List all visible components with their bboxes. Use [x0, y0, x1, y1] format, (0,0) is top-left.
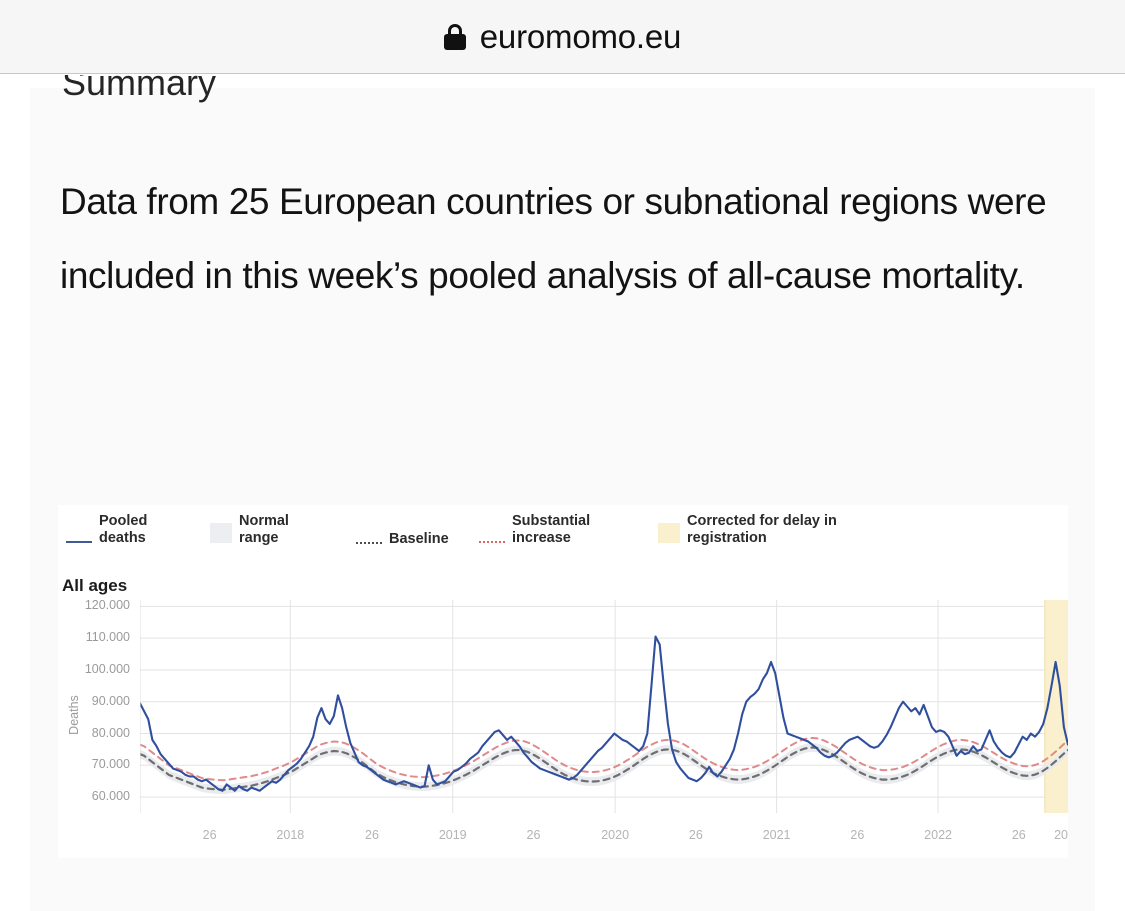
x-tick-label: 26: [1012, 828, 1026, 842]
y-tick-label: 80.000: [68, 726, 130, 740]
legend-item-substantial-increase: Substantial increase: [479, 513, 590, 547]
mortality-chart-card: Pooled deaths Normal range Baseline Subs…: [58, 505, 1068, 858]
legend-item-baseline: Baseline: [356, 531, 449, 548]
y-tick-label: 100.000: [68, 662, 130, 676]
y-axis-tick-labels: 60.00070.00080.00090.000100.000110.00012…: [68, 600, 130, 858]
pooled-deaths-line-icon: [66, 541, 92, 543]
chart-legend: Pooled deaths Normal range Baseline Subs…: [58, 513, 1068, 559]
x-tick-label: 2021: [763, 828, 791, 842]
x-tick-label: 26: [365, 828, 379, 842]
normal-range-swatch-icon: [210, 523, 232, 543]
browser-url-bar[interactable]: euromomo.eu: [0, 0, 1125, 74]
x-tick-label: 2018: [276, 828, 304, 842]
legend-label: Corrected for delay in registration: [687, 513, 837, 547]
intro-paragraph: Data from 25 European countries or subna…: [60, 165, 1050, 313]
y-tick-label: 120.000: [68, 598, 130, 612]
pooled-deaths-series: [140, 637, 1068, 791]
url-display[interactable]: euromomo.eu: [444, 18, 681, 56]
legend-label: Normal range: [239, 513, 289, 547]
x-tick-label: 2020: [601, 828, 629, 842]
x-tick-label: 26: [850, 828, 864, 842]
plot-area: [140, 600, 1068, 813]
legend-label: Baseline: [389, 531, 449, 548]
legend-label: Substantial increase: [512, 513, 590, 547]
legend-item-corrected-for-delay: Corrected for delay in registration: [658, 513, 837, 547]
legend-item-normal-range: Normal range: [210, 513, 289, 547]
y-tick-label: 90.000: [68, 694, 130, 708]
y-tick-label: 110.000: [68, 630, 130, 644]
baseline-dotted-icon: [356, 542, 382, 544]
mortality-line-chart: [140, 600, 1068, 813]
substantial-increase-dotted-icon: [479, 541, 505, 543]
x-tick-label: 2023: [1054, 828, 1068, 842]
y-tick-label: 60.000: [68, 789, 130, 803]
y-tick-label: 70.000: [68, 757, 130, 771]
url-text: euromomo.eu: [480, 18, 681, 56]
plot-wrapper: Deaths 60.00070.00080.00090.000100.00011…: [58, 600, 1068, 858]
x-tick-label: 26: [689, 828, 703, 842]
legend-item-pooled-deaths: Pooled deaths: [66, 513, 147, 547]
x-tick-label: 26: [527, 828, 541, 842]
cutoff-heading-partial: Summary: [62, 75, 216, 104]
legend-label: Pooled deaths: [99, 513, 147, 547]
x-tick-label: 26: [203, 828, 217, 842]
content-panel: Summary Data from 25 European countries …: [30, 88, 1095, 911]
correction-swatch-icon: [658, 523, 680, 543]
chart-title: All ages: [62, 576, 127, 596]
lock-icon: [444, 24, 466, 50]
x-tick-label: 2022: [924, 828, 952, 842]
page-content: Summary Data from 25 European countries …: [0, 75, 1125, 911]
normal-range-area: [140, 740, 1068, 794]
x-tick-label: 2019: [439, 828, 467, 842]
